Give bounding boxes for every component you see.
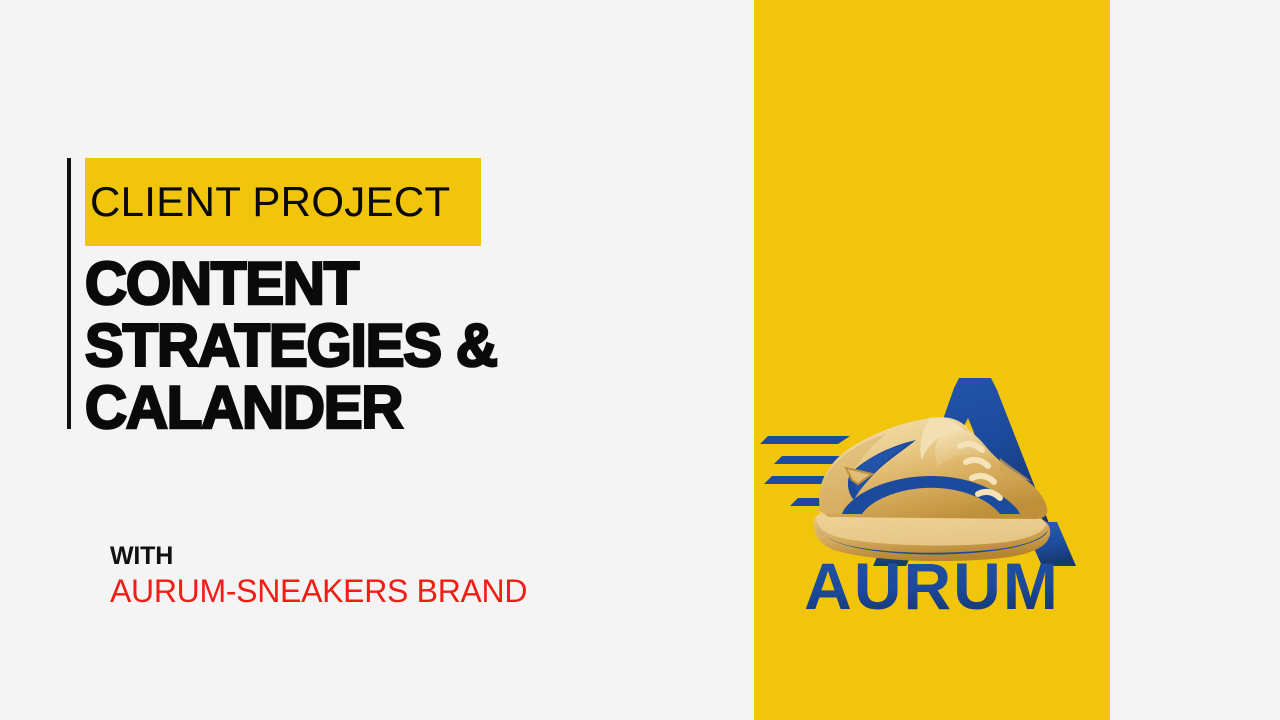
headline-line-3: CALANDER — [85, 377, 628, 439]
byline: WITH AURUM-SNEAKERS BRAND — [110, 541, 670, 611]
eyebrow-label: CLIENT PROJECT — [90, 181, 450, 223]
aurum-logo: AURUM — [754, 318, 1110, 628]
eyebrow-highlight-box: CLIENT PROJECT — [85, 158, 481, 246]
right-margin-filler — [1110, 0, 1280, 720]
brand-panel: AURUM — [754, 0, 1110, 720]
logo-wordmark: AURUM — [804, 549, 1060, 623]
headline-line-2: STRATEGIES & — [85, 315, 628, 377]
headline-line-1: CONTENT — [85, 253, 628, 315]
byline-with-label: WITH — [110, 541, 670, 571]
vertical-accent-rule — [67, 158, 71, 429]
aurum-logo-svg: AURUM — [754, 318, 1110, 628]
left-content-pane: CLIENT PROJECT CONTENT STRATEGIES & CALA… — [0, 0, 754, 720]
page-title: CONTENT STRATEGIES & CALANDER — [85, 253, 645, 439]
title-slide: CLIENT PROJECT CONTENT STRATEGIES & CALA… — [0, 0, 1280, 720]
byline-brand-name: AURUM-SNEAKERS BRAND — [110, 571, 670, 611]
